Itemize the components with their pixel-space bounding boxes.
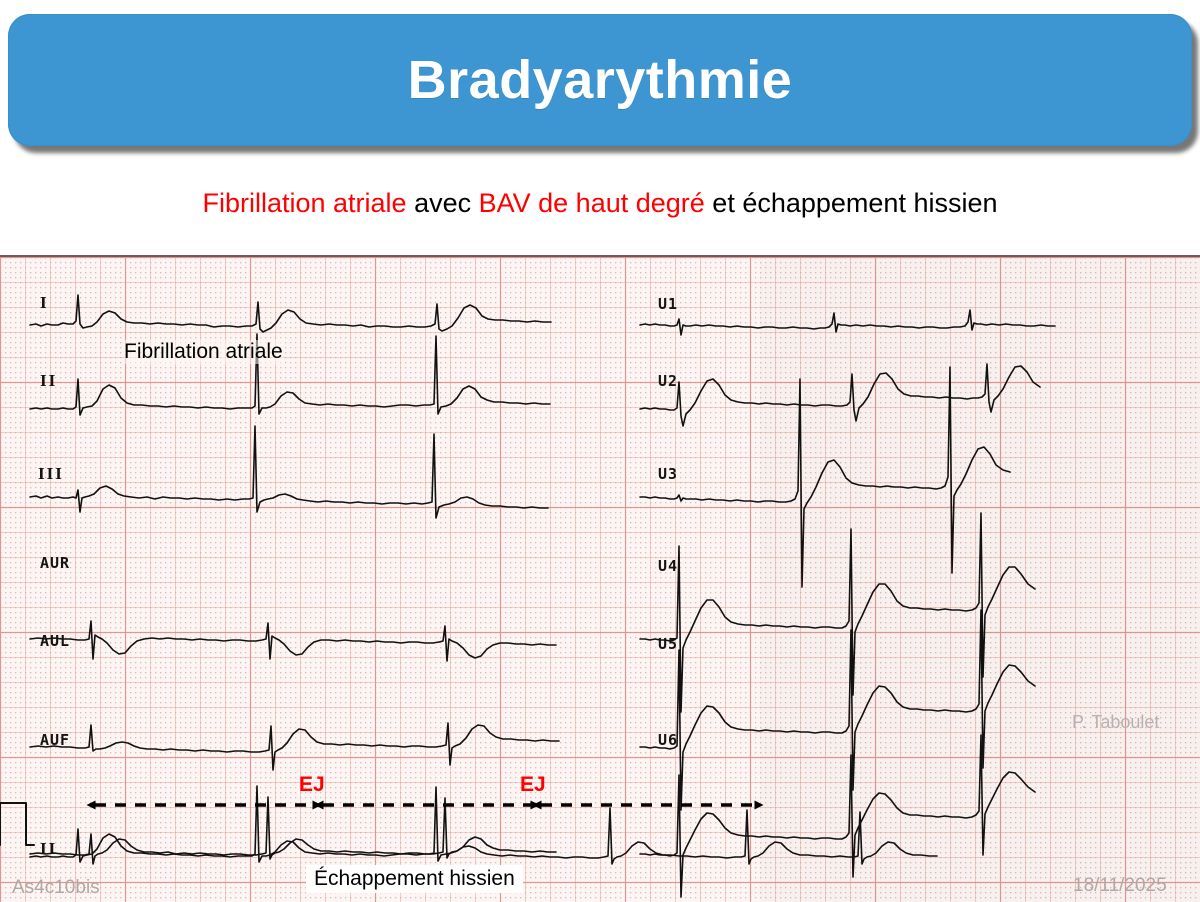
annotation-echappement-hissien: Échappement hissien [306,865,523,893]
subtitle-part-bav: BAV de haut degré [479,188,705,218]
subtitle: Fibrillation atriale avec BAV de haut de… [0,188,1200,219]
watermark-code: As4c10bis [12,877,100,899]
rr-interval-arrows [0,257,1200,902]
subtitle-part-fibrillation: Fibrillation atriale [202,188,406,218]
title-banner: Bradyarythmie [8,14,1192,146]
subtitle-part-avec: avec [407,188,479,218]
slide-root: Bradyarythmie Fibrillation atriale avec … [0,0,1200,900]
subtitle-part-echappement: et échappement hissien [705,188,998,218]
page-title: Bradyarythmie [408,49,793,111]
ecg-date: 18/11/2025 [1073,875,1167,897]
ecg-image: I II III AUR AUL AUF U1 U2 U3 U4 U5 U6 I… [0,255,1200,902]
watermark-author: P. Taboulet [1072,712,1159,733]
title-box: Bradyarythmie [8,14,1192,146]
